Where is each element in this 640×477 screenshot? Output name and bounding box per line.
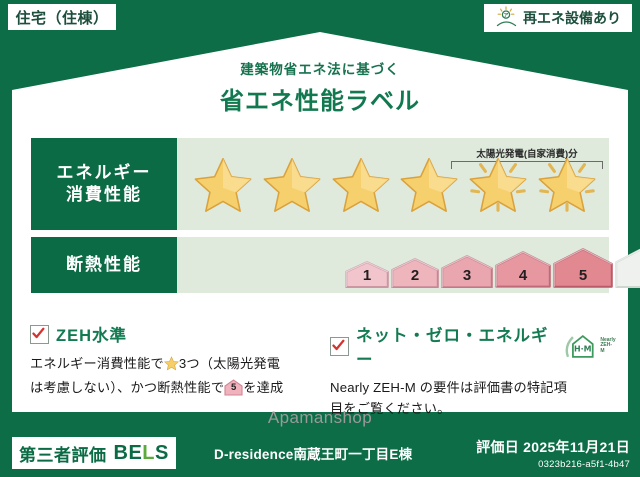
energy-label-line2: 消費性能	[66, 184, 142, 206]
zeh-text-part3: は考慮しない）、かつ断熱性能で	[30, 380, 224, 395]
star-icon	[328, 151, 394, 217]
bels-logo-jp: 第三者評価	[19, 441, 107, 466]
zeh-text-part1: エネルギー消費性能で	[30, 356, 164, 371]
bels-en-c: S	[155, 442, 169, 464]
energy-label-card: 住宅（住棟） ア 再エネ設備あり 建築物省エネ法に基づく 省エネ性能ラベル	[0, 0, 640, 477]
insulation-level-3: 3	[441, 255, 493, 288]
sun-icon: ア	[495, 6, 519, 31]
star-icon	[259, 151, 325, 217]
zeh-m-caption-line2: ZEH-M	[600, 342, 612, 354]
badge-housing-label: 住宅（住棟）	[15, 7, 108, 28]
insulation-levels-field: 1 2 3 4 5 6 7	[177, 237, 609, 293]
bels-en-b: L	[142, 442, 155, 464]
svg-text:ア: ア	[503, 13, 508, 19]
insulation-level-scale: 1 2 3 4 5 6 7	[345, 237, 599, 293]
zeh-text-part2: 3つ（太陽光発電	[179, 356, 280, 371]
insulation-level-1-number: 1	[345, 267, 389, 284]
zeh-standard-block: ZEH水準 エネルギー消費性能で3つ（太陽光発電 は考慮しない）、かつ断熱性能で…	[30, 322, 322, 399]
insulation-level-6: 6	[615, 245, 640, 288]
insulation-level-5-icon: 5	[224, 379, 243, 396]
zeh-standard-title: ZEH水準	[56, 322, 127, 346]
net-zero-energy-block: ネット・ゼロ・エネルギー H·M Nearly ZEH-M Nearly ZEH…	[330, 322, 616, 420]
net-zero-text-line1: Nearly ZEH-M の要件は評価書の特記項	[330, 380, 567, 395]
bels-en-a: BE	[114, 442, 143, 464]
star-icon	[534, 151, 600, 217]
bels-logo: 第三者評価 BELS	[12, 437, 176, 469]
energy-stars-field: 太陽光発電(自家消費)分	[177, 138, 609, 230]
zeh-standard-header: ZEH水準	[30, 322, 322, 346]
label-title-block: 建築物省エネ法に基づく 省エネ性能ラベル	[0, 58, 640, 116]
checkmark-icon	[30, 325, 49, 344]
insulation-level-4-number: 4	[495, 267, 551, 284]
star-icon	[190, 151, 256, 217]
title-subtitle: 建築物省エネ法に基づく	[0, 58, 640, 78]
insulation-level-5-number: 5	[553, 267, 613, 284]
net-zero-energy-header: ネット・ゼロ・エネルギー H·M Nearly ZEH-M	[330, 322, 616, 370]
watermark: Apamanshop	[0, 408, 640, 428]
insulation-level-5: 5	[553, 248, 613, 288]
insulation-level-6-number: 6	[615, 267, 640, 284]
evaluation-info: 評価日 2025年11月21日 0323b216-a5f1-4b47	[476, 437, 630, 470]
insulation-level-2-number: 2	[391, 267, 439, 284]
evaluation-id: 0323b216-a5f1-4b47	[476, 459, 630, 470]
svg-text:H·M: H·M	[574, 344, 592, 353]
badge-renewable-energy: ア 再エネ設備あり	[484, 4, 632, 32]
checkmark-icon	[330, 337, 349, 356]
insulation-level-2: 2	[391, 258, 439, 288]
badge-renewable-label: 再エネ設備あり	[523, 8, 621, 28]
label-footer: 第三者評価 BELS D-residence南蔵王町一丁目E棟 評価日 2025…	[0, 429, 640, 477]
energy-performance-row: エネルギー 消費性能 太陽光発電(自家消費)分	[31, 138, 609, 230]
bels-logo-en: BELS	[114, 442, 169, 465]
evaluation-date: 評価日 2025年11月21日	[476, 437, 630, 457]
badge-housing-type: 住宅（住棟）	[8, 4, 116, 30]
star-icon	[465, 151, 531, 217]
building-name: D-residence南蔵王町一丁目E棟	[214, 443, 412, 463]
star-icon-inline	[164, 356, 179, 377]
insulation-level-4: 4	[495, 251, 551, 288]
zeh-standard-description: エネルギー消費性能で3つ（太陽光発電 は考慮しない）、かつ断熱性能で5を達成	[30, 353, 322, 399]
zeh-m-logo-caption: Nearly ZEH-M	[600, 338, 616, 355]
insulation-level-5-number: 5	[224, 380, 243, 395]
insulation-performance-label: 断熱性能	[31, 237, 177, 293]
zeh-text-part4: を達成	[243, 380, 283, 395]
title-main: 省エネ性能ラベル	[0, 81, 640, 116]
insulation-performance-row: 断熱性能 1 2 3 4 5 6 7	[31, 237, 609, 293]
insulation-level-1: 1	[345, 261, 389, 288]
insulation-level-3-number: 3	[441, 267, 493, 284]
energy-label-line1: エネルギー	[57, 162, 152, 184]
energy-star-rating	[189, 138, 601, 230]
zeh-m-logo: H·M Nearly ZEH-M	[565, 333, 616, 359]
energy-performance-label: エネルギー 消費性能	[31, 138, 177, 230]
star-icon	[396, 151, 462, 217]
net-zero-energy-title: ネット・ゼロ・エネルギー	[356, 322, 553, 370]
